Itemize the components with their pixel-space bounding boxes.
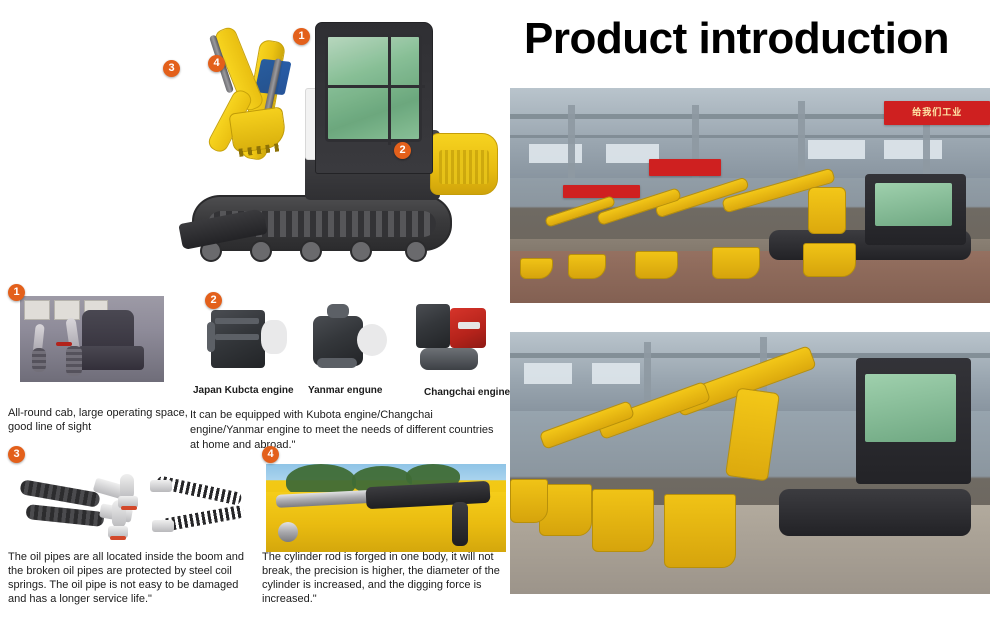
factory-window — [592, 363, 640, 384]
hydraulic-hose — [19, 479, 100, 508]
hero-excavator-image: 1 2 3 4 — [100, 0, 500, 268]
yanmar-engine-photo — [305, 300, 391, 376]
excavator-arm — [808, 187, 846, 234]
hose-fitting — [152, 520, 174, 532]
factory-window — [884, 140, 942, 159]
factory-photo-top: 给我们工业 — [510, 88, 990, 303]
pivot-pin — [278, 522, 298, 542]
hose-fitting — [150, 480, 172, 492]
excavator-engine-cover — [430, 133, 498, 195]
feature-badge-4[interactable]: 4 — [262, 446, 279, 463]
feature-badge-2[interactable]: 2 — [205, 292, 222, 309]
factory-scene-bottom — [510, 332, 990, 594]
product-introduction-page: Product introduction — [0, 0, 1000, 619]
excavator-bucket — [228, 106, 287, 153]
hose-seal-ring — [121, 506, 137, 510]
excavator-bucket — [664, 494, 736, 567]
engine-fan — [261, 320, 287, 354]
oil-pipe-feature-panel: 3 — [8, 446, 254, 546]
hydraulic-line — [452, 502, 468, 546]
track-wheel — [300, 240, 322, 262]
changchai-engine-label: Changchai engine — [424, 387, 510, 398]
factory-banner: 给我们工业 — [884, 101, 990, 125]
hydraulic-hose — [25, 504, 104, 527]
feature-badge-1[interactable]: 1 — [8, 284, 25, 301]
changchai-engine-photo — [410, 298, 496, 378]
hose-seal-ring — [110, 536, 126, 540]
engine-detail — [215, 334, 259, 340]
factory-banner — [649, 159, 721, 176]
cylinder-feature-caption: The cylinder rod is forged in one body, … — [262, 550, 512, 606]
oil-pipe-feature-caption: The oil pipes are all located inside the… — [8, 550, 254, 606]
lever-boot — [66, 346, 82, 376]
hero-badge-2[interactable]: 2 — [394, 142, 411, 159]
engine-block — [416, 304, 450, 348]
track-wheel — [250, 240, 272, 262]
cylinder-feature-panel: 4 — [262, 446, 510, 546]
cab-feature-caption: All-round cab, large operating space, go… — [8, 406, 188, 434]
excavator-bucket — [803, 243, 856, 277]
factory-beam — [510, 135, 990, 138]
excavator-bucket — [592, 489, 654, 552]
engine-detail — [207, 322, 215, 352]
engine-label-plate — [458, 322, 480, 329]
excavator-cab-glass — [325, 34, 422, 142]
cab-photo — [20, 296, 164, 382]
track-wheel — [350, 240, 372, 262]
hero-badge-4[interactable]: 4 — [208, 55, 225, 72]
engine-detail — [215, 318, 259, 324]
factory-banner — [563, 185, 640, 198]
cylinder-photo — [266, 464, 506, 552]
excavator-bucket — [568, 254, 606, 280]
excavator-cab-glass — [875, 183, 952, 226]
excavator-track — [779, 489, 971, 536]
engine-detail — [317, 358, 357, 368]
cab-window — [24, 300, 50, 320]
factory-photo-bottom — [510, 332, 990, 594]
kubota-engine-photo — [205, 300, 291, 376]
factory-window — [524, 363, 572, 384]
factory-window — [808, 140, 866, 159]
feature-badge-3[interactable]: 3 — [8, 446, 25, 463]
excavator-bucket — [510, 479, 548, 524]
lever-boot — [32, 348, 46, 372]
engine-base — [420, 348, 478, 370]
hero-badge-1[interactable]: 1 — [293, 28, 310, 45]
cab-feature-panel: 1 — [8, 284, 158, 380]
excavator-cab-glass — [865, 374, 956, 442]
cylinder-image — [266, 464, 506, 552]
cab-window — [54, 300, 80, 320]
page-title: Product introduction — [524, 14, 949, 64]
cab-accent — [56, 342, 72, 346]
factory-column — [568, 105, 575, 178]
oil-pipe-photo — [16, 464, 256, 552]
factory-scene-top: 给我们工业 — [510, 88, 990, 303]
engine-detail — [327, 304, 349, 318]
yanmar-engine-label: Yanmar engune — [308, 385, 382, 396]
cab-interior-image — [20, 296, 164, 382]
seat-cushion — [78, 346, 144, 370]
kubota-engine-label: Japan Kubcta engine — [193, 385, 294, 396]
track-wheel — [405, 240, 427, 262]
engine-fan — [357, 324, 387, 356]
engine-feature-panel: 2 — [205, 292, 495, 382]
hero-badge-3[interactable]: 3 — [163, 60, 180, 77]
factory-column — [798, 101, 805, 178]
excavator-bucket — [635, 251, 678, 279]
excavator-bucket — [712, 247, 760, 279]
